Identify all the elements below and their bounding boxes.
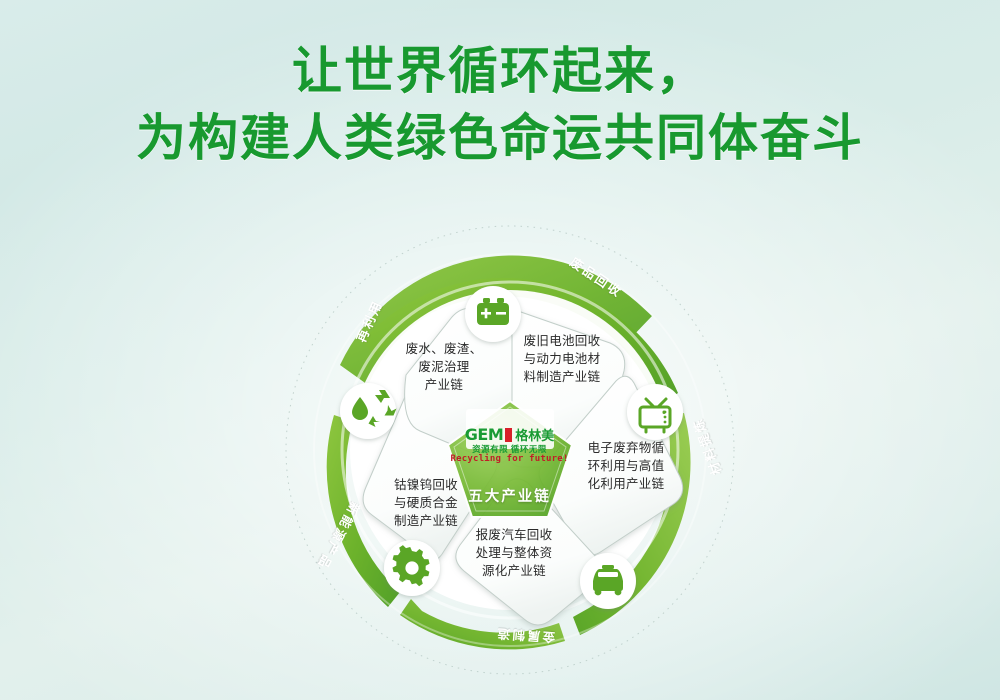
page-title: 让世界循环起来， 为构建人类绿色命运共同体奋斗	[0, 42, 1000, 168]
recycling-cycle-diagram: 废旧电池回收 与动力电池材 料制造产业链 电子废弃物循 环利用与高值 化利用产业…	[280, 215, 740, 685]
television-icon-dots	[664, 411, 667, 424]
icon-bubble-gear[interactable]	[384, 540, 440, 596]
page-title-line-1: 让世界循环起来，	[0, 42, 1000, 101]
icon-bubble-television[interactable]	[627, 384, 683, 440]
icon-bubble-car[interactable]	[580, 553, 636, 609]
icon-bubble-battery[interactable]	[465, 286, 521, 342]
cycle-diagram-svg	[280, 215, 740, 685]
page-title-line-2: 为构建人类绿色命运共同体奋斗	[0, 109, 1000, 168]
core-pentagon[interactable]	[448, 401, 572, 517]
